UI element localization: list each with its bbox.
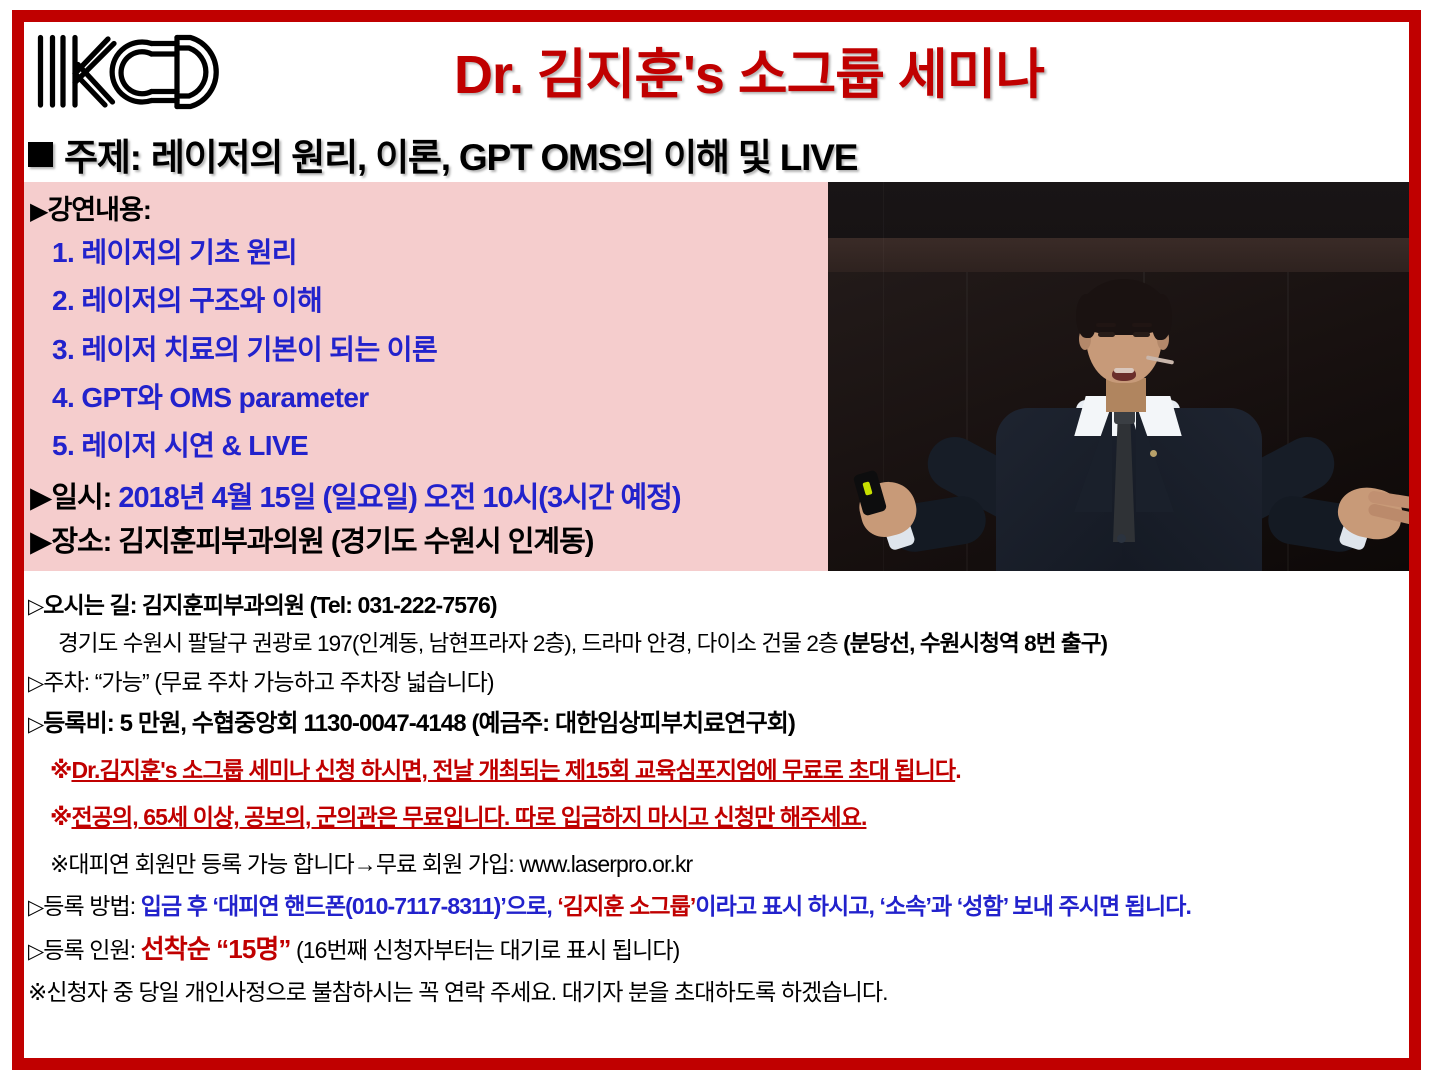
- notice-symposium: ※Dr.김지훈's 소그룹 세미나 신청 하시면, 전날 개최되는 제15회 교…: [28, 751, 1409, 785]
- photo-wall-top: [828, 182, 1409, 238]
- speaker-eye: [1133, 332, 1150, 337]
- capacity-value: 선착순 “15명”: [141, 934, 291, 964]
- method-text-a: 입금 후 ‘대피연 핸드폰(010-7117-8311)’으로,: [141, 893, 558, 919]
- event-datetime-row: ▶일시: 2018년 4월 15일 (일요일) 오전 10시(3시간 예정): [30, 476, 828, 520]
- membership-text: 대피연 회원만 등록 가능 합니다: [68, 851, 353, 877]
- method-keyword: ‘김지훈 소그룹’: [557, 893, 695, 919]
- subject-text: 레이저의 원리, 이론, GPT OMS의 이해 및 LIVE: [151, 127, 857, 181]
- notice-symposium-text: Dr.김지훈's 소그룹 세미나 신청 하시면, 전날 개최되는 제15회 교육…: [71, 757, 955, 783]
- speaker-teeth: [1114, 368, 1134, 373]
- fee-row: ▷등록비: 5 만원, 수협중앙회 1130-0047-4148 (예금주: 대…: [28, 709, 1409, 740]
- notice-membership: ※대피연 회원만 등록 가능 합니다→무료 회원 가입: www.laserpr…: [28, 845, 1409, 879]
- method-label: 등록 방법:: [43, 893, 135, 919]
- reference-mark-icon: ※: [50, 851, 68, 877]
- address-main: 경기도 수원시 팔달구 권광로 197(인계동, 남현프라자 2층), 드라마 …: [58, 631, 843, 656]
- footer-note-text: 신청자 중 당일 개인사정으로 불참하시는 꼭 연락 주세요. 대기자 분을 초…: [46, 979, 887, 1005]
- black-square-bullet-icon: [28, 142, 53, 167]
- kcd-logo-icon: [30, 26, 225, 118]
- directions-label: 오시는 길:: [43, 592, 136, 618]
- triangle-marker-icon: ▶: [30, 195, 47, 228]
- footer-note-row: ※신청자 중 당일 개인사정으로 불참하시는 꼭 연락 주세요. 대기자 분을 …: [28, 978, 1409, 1007]
- open-triangle-marker-icon: ▷: [28, 940, 43, 963]
- subject-label: 주제:: [64, 127, 141, 181]
- speaker-eyebrow: [1096, 323, 1116, 327]
- program-list: 1. 레이저의 기초 원리 2. 레이저의 구조와 이해 3. 레이저 치료의 …: [30, 229, 828, 470]
- registration-method-row: ▷등록 방법: 입금 후 ‘대피연 핸드폰(010-7117-8311)’으로,…: [28, 892, 1409, 922]
- details-section: ▷오시는 길: 김지훈피부과의원 (Tel: 031-222-7576) 경기도…: [24, 571, 1409, 1007]
- list-item: 3. 레이저 치료의 기본이 되는 이론: [30, 326, 828, 374]
- lapel-pin-icon: [1150, 450, 1157, 457]
- page-title: Dr. 김지훈's 소그룹 세미나: [354, 30, 1144, 109]
- reference-mark-icon: ※: [28, 979, 46, 1005]
- list-item: 1. 레이저의 기초 원리: [30, 229, 828, 277]
- parking-value: “가능” (무료 주차 가능하고 주차장 넓습니다): [95, 669, 494, 695]
- address-station: (분당선, 수원시청역 8번 출구): [843, 631, 1107, 656]
- parking-label: 주차:: [43, 669, 89, 695]
- speaker-hair-side: [1076, 294, 1096, 338]
- method-text-b: 이라고 표시 하시고, ‘소속’과 ‘성함’ 보내 주시면 됩니다.: [695, 893, 1191, 919]
- poster: Dr. 김지훈's 소그룹 세미나 주제: 레이저의 원리, 이론, GPT O…: [0, 0, 1433, 1080]
- datetime-value: 2018년 4월 15일 (일요일) 오전 10시(3시간 예정): [118, 482, 680, 514]
- poster-header: Dr. 김지훈's 소그룹 세미나: [24, 22, 1409, 126]
- capacity-label: 등록 인원:: [43, 937, 135, 963]
- fee-label: 등록비:: [43, 710, 114, 737]
- list-item: 5. 레이저 시연 & LIVE: [30, 422, 828, 470]
- program-box: ▶강연내용: 1. 레이저의 기초 원리 2. 레이저의 구조와 이해 3. 레…: [24, 182, 828, 571]
- info-band: ▶강연내용: 1. 레이저의 기초 원리 2. 레이저의 구조와 이해 3. 레…: [24, 182, 1409, 571]
- arrow-right-icon: →: [354, 851, 376, 877]
- venue-value: 김지훈피부과의원 (경기도 수원시 인계동): [118, 526, 593, 558]
- capacity-note: (16번째 신청자부터는 대기로 표시 됩니다): [291, 937, 680, 963]
- capacity-row: ▷등록 인원: 선착순 “15명” (16번째 신청자부터는 대기로 표시 됩니…: [28, 933, 1409, 966]
- directions-row: ▷오시는 길: 김지훈피부과의원 (Tel: 031-222-7576): [28, 591, 1409, 621]
- program-heading-label: 강연내용:: [47, 195, 150, 225]
- speaker-eyebrow: [1132, 323, 1152, 327]
- speaker-hair-side: [1152, 294, 1172, 340]
- open-triangle-marker-icon: ▷: [28, 595, 43, 618]
- list-item: 4. GPT와 OMS parameter: [30, 374, 828, 422]
- directions-value: 김지훈피부과의원 (Tel: 031-222-7576): [142, 592, 497, 618]
- reference-mark-icon: ※: [50, 757, 71, 783]
- triangle-marker-icon: ▶: [30, 520, 51, 564]
- list-item: 2. 레이저의 구조와 이해: [30, 277, 828, 325]
- subject-line: 주제: 레이저의 원리, 이론, GPT OMS의 이해 및 LIVE: [28, 126, 1409, 182]
- open-triangle-marker-icon: ▷: [28, 672, 43, 695]
- fee-value: 5 만원, 수협중앙회 1130-0047-4148 (예금주: 대한임상피부치…: [120, 710, 795, 737]
- triangle-marker-icon: ▶: [30, 476, 51, 520]
- venue-label: 장소:: [51, 526, 111, 558]
- reference-mark-icon: ※: [50, 804, 71, 830]
- photo-wall-band: [828, 238, 1409, 272]
- poster-content: Dr. 김지훈's 소그룹 세미나 주제: 레이저의 원리, 이론, GPT O…: [24, 22, 1409, 1058]
- notice-free-groups: ※전공의, 65세 이상, 공보의, 군의관은 무료입니다. 따로 입금하지 마…: [28, 798, 1409, 832]
- datetime-label: 일시:: [51, 482, 111, 514]
- speaker-neck: [1106, 378, 1146, 412]
- program-heading: ▶강연내용:: [30, 192, 828, 229]
- open-triangle-marker-icon: ▷: [28, 713, 43, 736]
- event-venue-row: ▶장소: 김지훈피부과의원 (경기도 수원시 인계동): [30, 520, 828, 564]
- address-row: 경기도 수원시 팔달구 권광로 197(인계동, 남현프라자 2층), 드라마 …: [28, 626, 1409, 658]
- open-triangle-marker-icon: ▷: [28, 896, 43, 919]
- speaker-photo: [828, 182, 1409, 571]
- notice-free-groups-text: 전공의, 65세 이상, 공보의, 군의관은 무료입니다. 따로 입금하지 마시…: [71, 804, 866, 830]
- membership-url-text: 무료 회원 가입: www.laserpro.or.kr: [376, 851, 693, 877]
- notice-symposium-tail: .: [955, 757, 961, 783]
- parking-row: ▷주차: “가능” (무료 주차 가능하고 주차장 넓습니다): [28, 668, 1409, 698]
- speaker-eye: [1098, 332, 1115, 337]
- jacket-button-icon: [1117, 534, 1126, 543]
